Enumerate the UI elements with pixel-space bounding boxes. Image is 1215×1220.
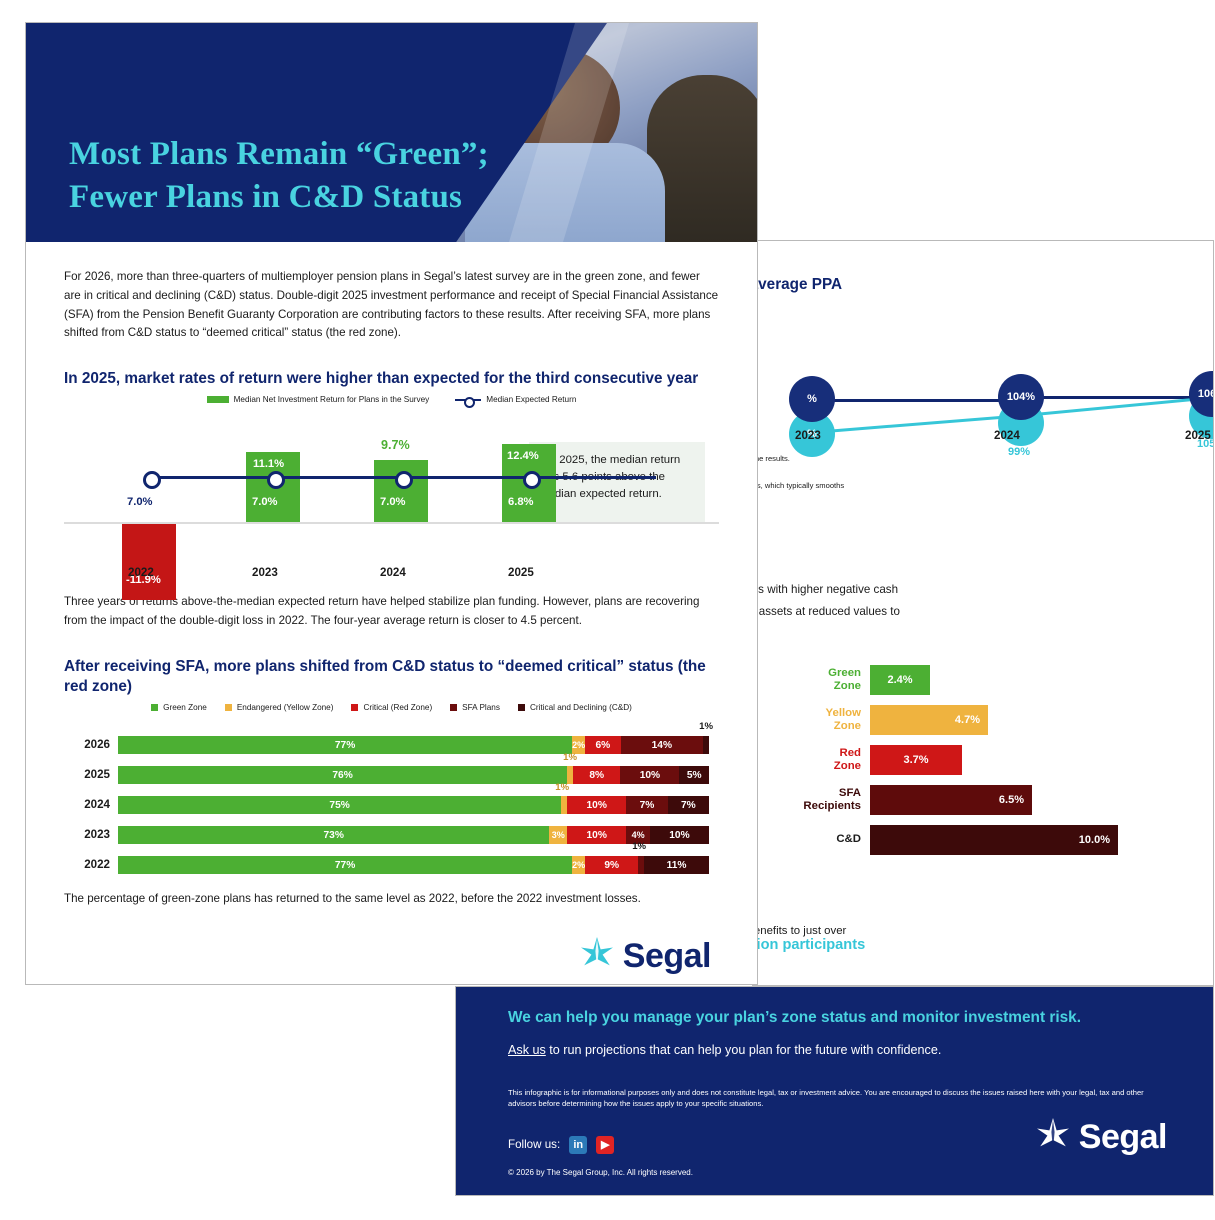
ppa-navy-bubble-2023: % (789, 376, 835, 422)
seg-yellow-2024: 1% (561, 796, 567, 814)
segal-logo-footer: Segal (1034, 1116, 1167, 1159)
ppa-footnote-2: mance. (752, 467, 1185, 478)
volatility-line2: a market downturn, they may be forced to… (752, 603, 1185, 622)
legend-item-sfa-plans: SFA Plans (450, 703, 500, 712)
row-track-2022: 77% 2% 9% 1% 11% (118, 856, 709, 874)
seg-green-2022: 77% (118, 856, 572, 874)
ncf-bar-green: 2.4% (870, 665, 930, 695)
ncf-row: YellowZone 4.7% (765, 705, 1185, 735)
expected-dot-2022 (143, 471, 161, 489)
page-title-line1: Most Plans Remain “Green”; (69, 136, 489, 172)
expected-label-2024: 7.0% (380, 496, 406, 508)
legend-label-critical: Critical (Red Zone) (363, 703, 432, 712)
legend-label-median-net-return: Median Net Investment Return for Plans i… (234, 395, 430, 404)
ncf-label-yellow: YellowZone (765, 707, 870, 733)
returns-legend: Median Net Investment Return for Plans i… (64, 395, 719, 404)
row-label-2026: 2026 (64, 736, 110, 754)
zones-paragraph: The percentage of green-zone plans has r… (64, 890, 719, 909)
legend-item-critical: Critical (Red Zone) (351, 703, 432, 712)
seg-red-2025: 8% (573, 766, 620, 784)
participants-line2: 2.7 million participants (752, 937, 865, 953)
seg-sfa-2025: 10% (620, 766, 679, 784)
ncf-bar-sfa: 6.5% (870, 785, 1032, 815)
ncf-label-sfa: SFARecipients (765, 787, 870, 813)
seg-yellow-2025-callout: 1% (563, 752, 577, 763)
intro-paragraph: For 2026, more than three-quarters of mu… (64, 268, 719, 343)
ask-us-link[interactable]: Ask us (508, 1043, 546, 1057)
seg-red-2024: 10% (567, 796, 626, 814)
row-track-2023: 73% 3% 10% 4% 10% (118, 826, 709, 844)
header-photo-person2 (647, 75, 757, 242)
xtick-2022: 2022 (128, 566, 154, 579)
participants-text: provide benefits to just over 2.7 millio… (752, 925, 865, 953)
table-row: 2024 75% 1% 10% 7% 7% (64, 796, 719, 814)
seg-cd-2023: 10% (650, 826, 709, 844)
legend-swatch-green-zone (151, 704, 158, 711)
returns-chart: For 2025, the median return was 5.6 poin… (64, 414, 719, 589)
youtube-icon[interactable]: ▶ (596, 1136, 614, 1154)
page-title: Most Plans Remain “Green”; Fewer Plans i… (69, 133, 489, 220)
volatility-line1: g benefit payments exceed contributions.… (752, 581, 1185, 600)
legend-label-endangered: Endangered (Yellow Zone) (237, 703, 334, 712)
segal-star-icon (578, 935, 616, 978)
legend-label-cd: Critical and Declining (C&D) (530, 703, 632, 712)
ncf-row: SFARecipients 6.5% (765, 785, 1185, 815)
ppa-losses-text: the recognition of 2022 investment losse… (752, 510, 1185, 529)
ncf-row: GreenZone 2.4% (765, 665, 1185, 695)
seg-cd-2026: 1% (703, 736, 709, 754)
ppa-xtick-2024: 2024 (994, 429, 1020, 442)
returns-heading: In 2025, market rates of return were hig… (64, 369, 719, 389)
row-label-2023: 2023 (64, 826, 110, 844)
ncf-label-red: RedZone (765, 747, 870, 773)
table-row: 2025 76% 1% 8% 10% 5% (64, 766, 719, 784)
seg-sfa-2024: 7% (626, 796, 667, 814)
footer-panel: We can help you manage your plan’s zone … (455, 986, 1214, 1196)
bar-label-2024: 9.7% (381, 438, 410, 452)
segal-star-icon (1034, 1116, 1072, 1159)
seg-green-2024: 75% (118, 796, 561, 814)
volatility-line3: y a benefits-driven investment strategy. (752, 626, 1185, 645)
header-banner: Most Plans Remain “Green”; Fewer Plans i… (26, 23, 757, 242)
seg-sfa-2022-callout: 1% (632, 841, 646, 852)
seg-cd-2024: 7% (668, 796, 709, 814)
linkedin-icon[interactable]: in (569, 1136, 587, 1154)
seg-green-2025: 76% (118, 766, 567, 784)
page-1: Most Plans Remain “Green”; Fewer Plans i… (25, 22, 758, 985)
seg-green-2023: 73% (118, 826, 549, 844)
page-title-line2: Fewer Plans in C&D Status (69, 179, 462, 215)
legend-marker-line (455, 396, 481, 403)
expected-label-2023: 7.0% (252, 496, 278, 508)
seg-red-2022: 9% (585, 856, 638, 874)
segal-wordmark-footer: Segal (1079, 1118, 1167, 1157)
xtick-2023: 2023 (252, 566, 278, 579)
legend-swatch-cd (518, 704, 525, 711)
bar-label-2025: 12.4% (507, 450, 539, 462)
ncf-bar-yellow: 4.7% (870, 705, 988, 735)
volatility-heading: g market volatility (752, 554, 1185, 574)
bar-2024 (374, 460, 428, 522)
seg-yellow-2022: 2% (572, 856, 585, 874)
seg-sfa-2022: 1% (638, 856, 644, 874)
legend-swatch-endangered (225, 704, 232, 711)
participants-line1: provide benefits to just over (752, 925, 865, 937)
seg-yellow-2024-callout: 1% (555, 782, 569, 793)
seg-cd-2026-callout: 1% (699, 721, 713, 732)
legend-item-cd: Critical and Declining (C&D) (518, 703, 632, 712)
participants-block: billion provide benefits to just over 2.… (752, 918, 1185, 961)
seg-red-2026: 6% (585, 736, 620, 754)
row-track-2026: 77% 2% 6% 14% 1% (118, 736, 709, 754)
ncf-row: RedZone 3.7% (765, 745, 1185, 775)
ppa-xtick-2023: 2023 (795, 429, 821, 442)
legend-label-median-expected-return: Median Expected Return (486, 395, 576, 404)
ncf-row: C&D 10.0% (765, 825, 1185, 855)
zones-legend: Green Zone Endangered (Yellow Zone) Crit… (64, 703, 719, 712)
footer-subtext: Ask us to run projections that can help … (508, 1043, 1161, 1057)
legend-item-median-net-return: Median Net Investment Return for Plans i… (207, 395, 430, 404)
copyright-text: © 2026 by The Segal Group, Inc. All righ… (508, 1168, 1161, 1177)
ppa-teal-label-2024: 99% (1008, 446, 1030, 458)
seg-green-2026: 77% (118, 736, 572, 754)
legend-swatch-sfa (450, 704, 457, 711)
row-label-2025: 2025 (64, 766, 110, 784)
ppa-heading: ted in a gradual increase in the average… (752, 275, 1185, 315)
ppa-navy-line-seg1 (813, 399, 1025, 402)
xtick-2025: 2025 (508, 566, 534, 579)
row-label-2024: 2024 (64, 796, 110, 814)
seg-cd-2025: 5% (679, 766, 709, 784)
row-label-2022: 2022 (64, 856, 110, 874)
seg-yellow-2023: 3% (549, 826, 567, 844)
page-2-content: ted in a gradual increase in the average… (752, 241, 1214, 961)
legend-swatch-green (207, 396, 229, 403)
segal-wordmark: Segal (623, 937, 711, 976)
table-row: 2023 73% 3% 10% 4% 10% (64, 826, 719, 844)
bar-label-2023: 11.1% (253, 458, 284, 470)
row-track-2025: 76% 1% 8% 10% 5% (118, 766, 709, 784)
ppa-heading-line1: ted in a gradual increase in the average… (752, 276, 842, 293)
seg-cd-2022: 11% (644, 856, 709, 874)
legend-item-endangered: Endangered (Yellow Zone) (225, 703, 334, 712)
follow-label: Follow us: (508, 1138, 560, 1151)
segal-logo: Segal (578, 935, 711, 978)
legend-label-sfa-plans: SFA Plans (462, 703, 500, 712)
footer-heading: We can help you manage your plan’s zone … (508, 1009, 1161, 1027)
table-row: 2026 77% 2% 6% 14% 1% (64, 736, 719, 754)
bar-2022 (122, 524, 176, 600)
footer-disclaimer: This infographic is for informational pu… (508, 1087, 1161, 1110)
table-row: 2022 77% 2% 9% 1% 11% (64, 856, 719, 874)
ncf-label-green: GreenZone (765, 667, 870, 693)
negative-cash-flow-chart: GreenZone 2.4% YellowZone 4.7% RedZone 3… (765, 665, 1185, 869)
page-2: ted in a gradual increase in the average… (752, 240, 1214, 986)
legend-label-green-zone: Green Zone (163, 703, 207, 712)
legend-item-median-expected-return: Median Expected Return (455, 395, 576, 404)
xtick-2024: 2024 (380, 566, 406, 579)
zones-heading: After receiving SFA, more plans shifted … (64, 657, 719, 697)
ncf-bar-cd: 10.0% (870, 825, 1118, 855)
row-track-2024: 75% 1% 10% 7% 7% (118, 796, 709, 814)
ppa-footnote-3: n Protection Act of 2006 (PPA) is based … (752, 480, 1185, 491)
legend-item-green-zone: Green Zone (151, 703, 207, 712)
legend-swatch-critical (351, 704, 358, 711)
ncf-bar-red: 3.7% (870, 745, 962, 775)
ncf-label-cd: C&D (765, 833, 870, 846)
expected-label-2025: 6.8% (508, 496, 534, 508)
footer-subtext-rest: to run projections that can help you pla… (546, 1043, 942, 1057)
seg-red-2023: 10% (567, 826, 626, 844)
plan-years-text: th plan years beginning January 1, 2026. (752, 887, 1185, 906)
ppa-line-chart: % % 104% 99% 106% 105% 107% 111% 2023 20… (752, 323, 1185, 451)
seg-sfa-2026: 14% (621, 736, 704, 754)
ppa-xtick-2025: 2025 (1185, 429, 1211, 442)
expected-label-2022: 7.0% (127, 496, 153, 508)
zones-stacked-chart: 2026 77% 2% 6% 14% 1% 2025 76% 1% (64, 728, 719, 876)
